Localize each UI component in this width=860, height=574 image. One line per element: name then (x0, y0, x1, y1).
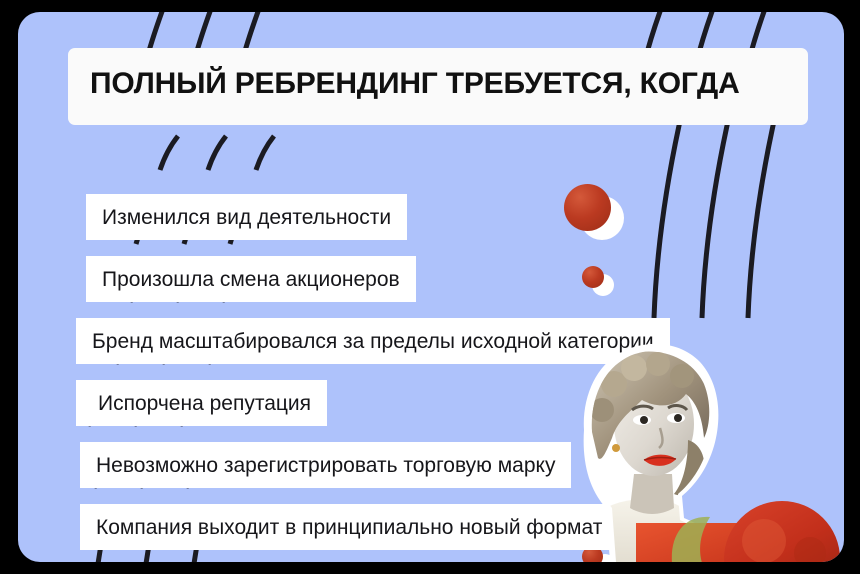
portrait-brow-right (668, 406, 687, 410)
fruit-apple (724, 501, 840, 562)
portrait-lips (644, 455, 676, 466)
portrait-face (614, 372, 694, 476)
slide-canvas: ПОЛНЫЙ РЕБРЕНДИНГ ТРЕБУЕТСЯ, КОГДА (0, 0, 860, 574)
portrait-earring (612, 444, 620, 452)
dot-cluster-small (574, 262, 624, 306)
list-item: Испорчена репутация (76, 380, 327, 426)
dot-cluster-large (558, 182, 638, 252)
portrait-hair-curl (674, 440, 704, 495)
dot-small (582, 266, 604, 288)
dot-large (564, 184, 611, 231)
slide-title-box: ПОЛНЫЙ РЕБРЕНДИНГ ТРЕБУЕТСЯ, КОГДА (68, 48, 808, 125)
list-item: Бренд масштабировался за пределы исходно… (76, 318, 670, 364)
portrait-brow-left (632, 406, 653, 410)
portrait-nose (659, 428, 663, 448)
page-title: ПОЛНЫЙ РЕБРЕНДИНГ ТРЕБУЕТСЯ, КОГДА (90, 66, 786, 103)
red-fruit-collage (614, 467, 844, 562)
fruit-slice-band (636, 523, 756, 562)
portrait-hair (591, 352, 710, 459)
slide-card: ПОЛНЫЙ РЕБРЕНДИНГ ТРЕБУЕТСЯ, КОГДА (18, 12, 844, 562)
list-item: Компания выходит в принципиально новый ф… (80, 504, 618, 550)
list-item: Изменился вид деятельности (86, 194, 407, 240)
portrait-neck (630, 474, 674, 514)
list-item: Невозможно зарегистрировать торговую мар… (80, 442, 571, 488)
list-item: Произошла смена акционеров (86, 256, 416, 302)
fruit-leaf (672, 517, 710, 562)
